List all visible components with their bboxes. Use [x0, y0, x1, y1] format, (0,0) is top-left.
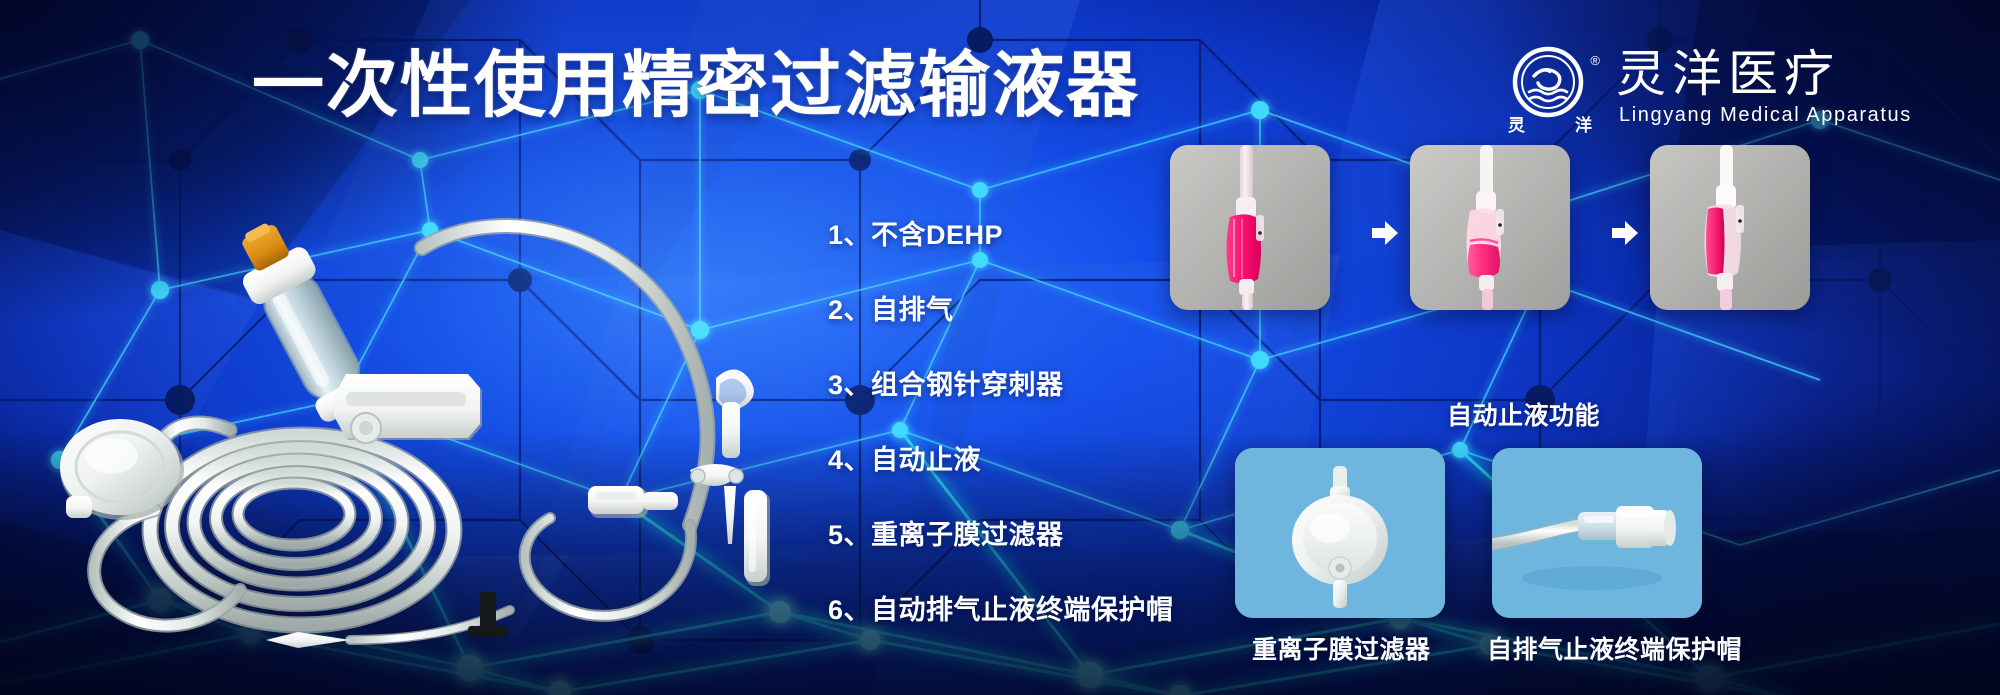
logo-emblem-char-left: 灵	[1508, 111, 1525, 136]
demo-photo-step-1	[1170, 145, 1330, 310]
feature-item-4: 4、自动止液	[828, 447, 1208, 474]
feature-item-5: 5、重离子膜过滤器	[828, 522, 1208, 549]
brand-name-en: Lingyang Medical Apparatus	[1616, 101, 1912, 130]
registered-trademark-icon: ®	[1590, 54, 1600, 67]
brand-logo: ® 灵 洋 灵洋医疗 Lingyang Medical Apparatus	[1504, 40, 1974, 136]
detail-photo-protective-cap	[1492, 448, 1702, 618]
page-title: 一次性使用精密过滤输液器	[252, 50, 1140, 122]
detail-photo-heavy-ion-filter	[1235, 448, 1445, 618]
feature-item-1: 1、不含DEHP	[828, 222, 1208, 249]
detail-caption-heavy-ion-filter: 重离子膜过滤器	[1252, 630, 1431, 666]
demo-photo-step-3	[1650, 145, 1810, 310]
demo-sequence-caption: 自动止液功能	[1447, 396, 1600, 432]
feature-item-6: 6、自动排气止液终端保护帽	[828, 597, 1208, 624]
feature-item-3: 3、组合钢针穿刺器	[828, 372, 1208, 399]
brand-name-block: 灵洋医疗 Lingyang Medical Apparatus	[1616, 46, 1912, 130]
banner-title-area: 一次性使用精密过滤输液器	[252, 44, 1042, 128]
arrow-right-icon-2	[1610, 218, 1640, 248]
product-banner: 一次性使用精密过滤输液器 ® 灵 洋 灵洋医疗 Lingyang Medical…	[0, 0, 2000, 695]
logo-emblem-subtext: 灵 洋	[1508, 111, 1592, 136]
brand-name-cn: 灵洋医疗	[1616, 48, 1912, 101]
product-photo-infusion-set	[30, 140, 790, 685]
logo-emblem-icon: ® 灵 洋	[1504, 42, 1602, 134]
feature-item-2: 2、自排气	[828, 297, 1208, 324]
arrow-right-icon-1	[1370, 218, 1400, 248]
logo-emblem-char-right: 洋	[1575, 111, 1592, 136]
demo-photo-step-2	[1410, 145, 1570, 310]
feature-list: 1、不含DEHP 2、自排气 3、组合钢针穿刺器 4、自动止液 5、重离子膜过滤…	[828, 222, 1208, 624]
detail-caption-protective-cap: 自排气止液终端保护帽	[1487, 630, 1742, 666]
